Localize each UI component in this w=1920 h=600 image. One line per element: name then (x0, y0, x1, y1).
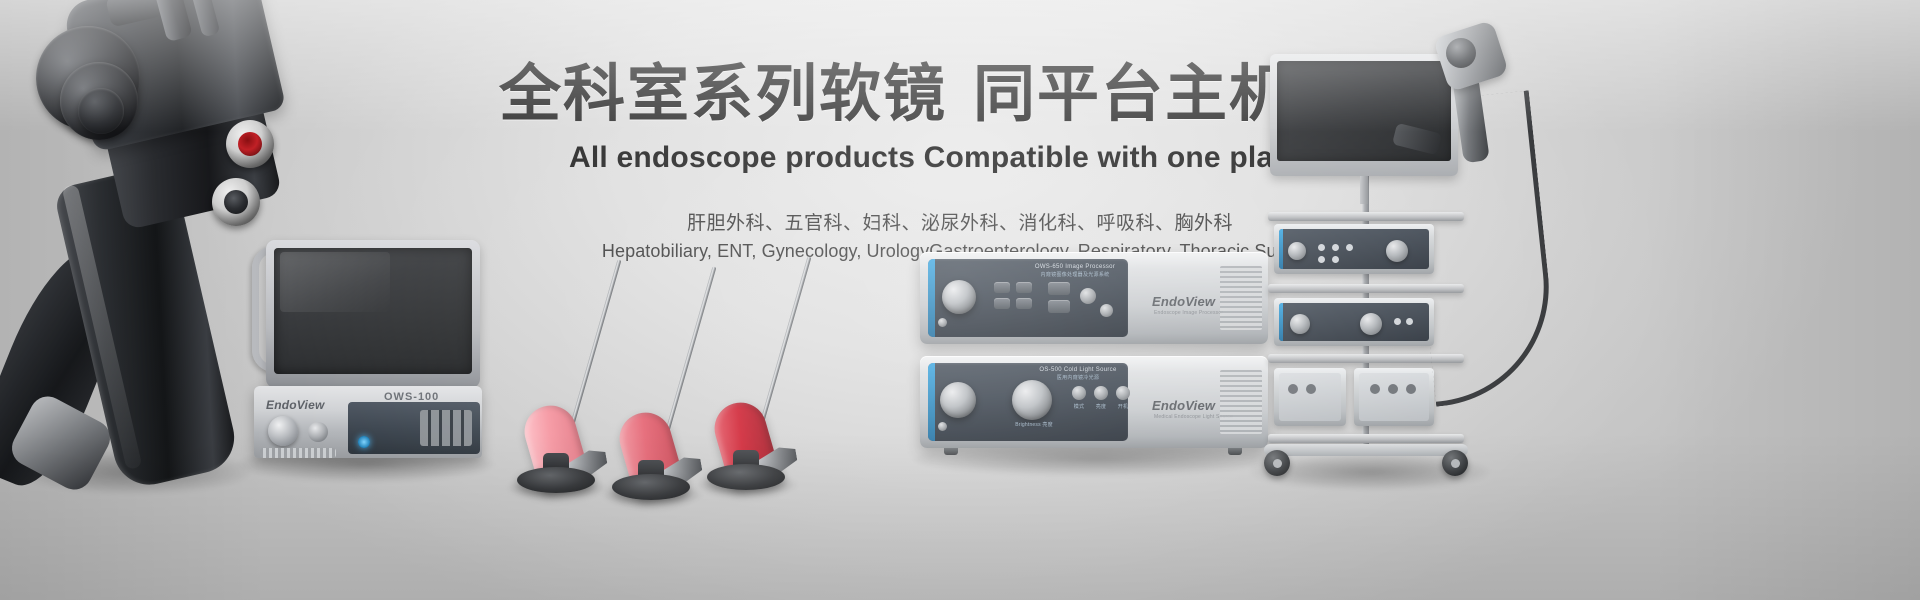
image-processor-button-2 (1016, 282, 1032, 293)
cart-device-lower-knob (1290, 314, 1310, 334)
image-processor-brand: EndoView (1152, 294, 1215, 309)
ows-screen-glare (280, 252, 390, 312)
light-source-brand: EndoView (1152, 398, 1215, 413)
cart-device-lower-led-1 (1394, 318, 1401, 325)
image-processor-main-dial (942, 280, 976, 314)
cart-device-lower-led-2 (1406, 318, 1413, 325)
light-source-button-standby (1094, 386, 1108, 400)
cart-device-upper-led-4 (1318, 256, 1325, 263)
cart-device-upper-dial (1386, 240, 1408, 262)
cart-device-bottom-right (1354, 368, 1434, 426)
cart-device-upper-led-1 (1318, 244, 1325, 251)
instrument-shaft (707, 252, 817, 412)
ows-secondary-knob (308, 422, 328, 442)
light-source-power-dial (940, 382, 976, 418)
cart-shelf-4 (1268, 434, 1464, 443)
image-processor-button-1 (994, 282, 1010, 293)
unit-foot-left (944, 448, 958, 455)
image-processor-blue-accent (928, 259, 935, 337)
cart-device-upper-knob (1288, 242, 1306, 260)
image-processor-button-3 (994, 298, 1010, 309)
light-source-title: OS-500 Cold Light Source 医用内窥镜冷光源 (1030, 366, 1126, 382)
cart-device-bottom-left (1274, 368, 1346, 426)
image-processor-usb-port (1080, 288, 1096, 304)
cart-base-frame (1264, 444, 1468, 456)
cart-wheel-left (1264, 450, 1290, 476)
rigid-instrument-3 (695, 252, 845, 492)
ows-brand-label: EndoView (266, 398, 356, 413)
cart-device-lower (1274, 298, 1434, 346)
cart-device-br-indicator-2 (1388, 384, 1398, 394)
ows-main-knob (268, 416, 298, 446)
image-processor-led (938, 318, 947, 327)
endoscope-dial-center (78, 88, 124, 134)
light-source-unit: OS-500 Cold Light Source 医用内窥镜冷光源 Bright… (920, 356, 1268, 448)
cart-device-upper-led-2 (1332, 244, 1339, 251)
processor-stack: OWS-650 Image Processor 内窥镜图像处理器及光源系统 En… (920, 252, 1270, 452)
cart-device-bottom-right-panel (1359, 373, 1429, 421)
image-processor-button-4 (1016, 298, 1032, 309)
image-processor-vent (1220, 266, 1262, 330)
image-processor-button-6 (1048, 300, 1070, 313)
ows-keypad (420, 410, 472, 446)
image-processor-connector (1100, 304, 1113, 317)
cart-wheel-right (1442, 450, 1468, 476)
light-source-led (938, 422, 947, 431)
unit-foot-right (1228, 448, 1242, 455)
cart-monitor-mount (1360, 176, 1368, 204)
cart-device-br-indicator-3 (1406, 384, 1416, 394)
light-source-vent (1220, 370, 1262, 434)
endoscope-air-water-button (212, 178, 260, 226)
cart-device-upper-led-3 (1346, 244, 1353, 251)
cart-device-lower-accent (1279, 303, 1283, 341)
product-banner: 全科室系列软镜同平台主机兼容 All endoscope products Co… (0, 0, 1920, 600)
image-processor-title: OWS-650 Image Processor 内窥镜图像处理器及光源系统 (1030, 263, 1120, 279)
cart-device-bl-indicator-2 (1306, 384, 1316, 394)
endoscope-suction-button-red (226, 120, 274, 168)
image-processor-button-5 (1048, 282, 1070, 295)
ows-vent-grille (260, 448, 336, 458)
cart-device-lower-dial (1360, 313, 1382, 335)
cart-device-br-indicator (1370, 384, 1380, 394)
instrument-stand-base (517, 467, 595, 493)
cart-device-upper-led-5 (1332, 256, 1339, 263)
headline-part-1: 全科室系列软镜 (499, 60, 947, 129)
light-source-button-lamp (1116, 386, 1130, 400)
cart-scope-dial (1446, 38, 1476, 68)
light-source-button-mode (1072, 386, 1086, 400)
light-source-label-3: 开机 (1110, 404, 1136, 411)
ows-power-led (358, 436, 370, 448)
cart-device-upper (1274, 224, 1434, 274)
endoscopy-cart (1290, 36, 1520, 476)
light-source-blue-accent (928, 363, 935, 441)
cart-device-upper-accent (1279, 229, 1283, 269)
instrument-stand-base (707, 464, 785, 490)
cart-device-bottom-left-panel (1279, 373, 1341, 421)
image-processor-unit: OWS-650 Image Processor 内窥镜图像处理器及光源系统 En… (920, 252, 1268, 344)
instrument-stand-base (612, 474, 690, 500)
ows-workstation: EndoView OWS-100 (232, 240, 482, 470)
light-source-brightness-knob (1012, 380, 1052, 420)
light-source-knob-label: Brightness 亮度 (1012, 422, 1056, 429)
cart-device-bl-indicator (1288, 384, 1298, 394)
